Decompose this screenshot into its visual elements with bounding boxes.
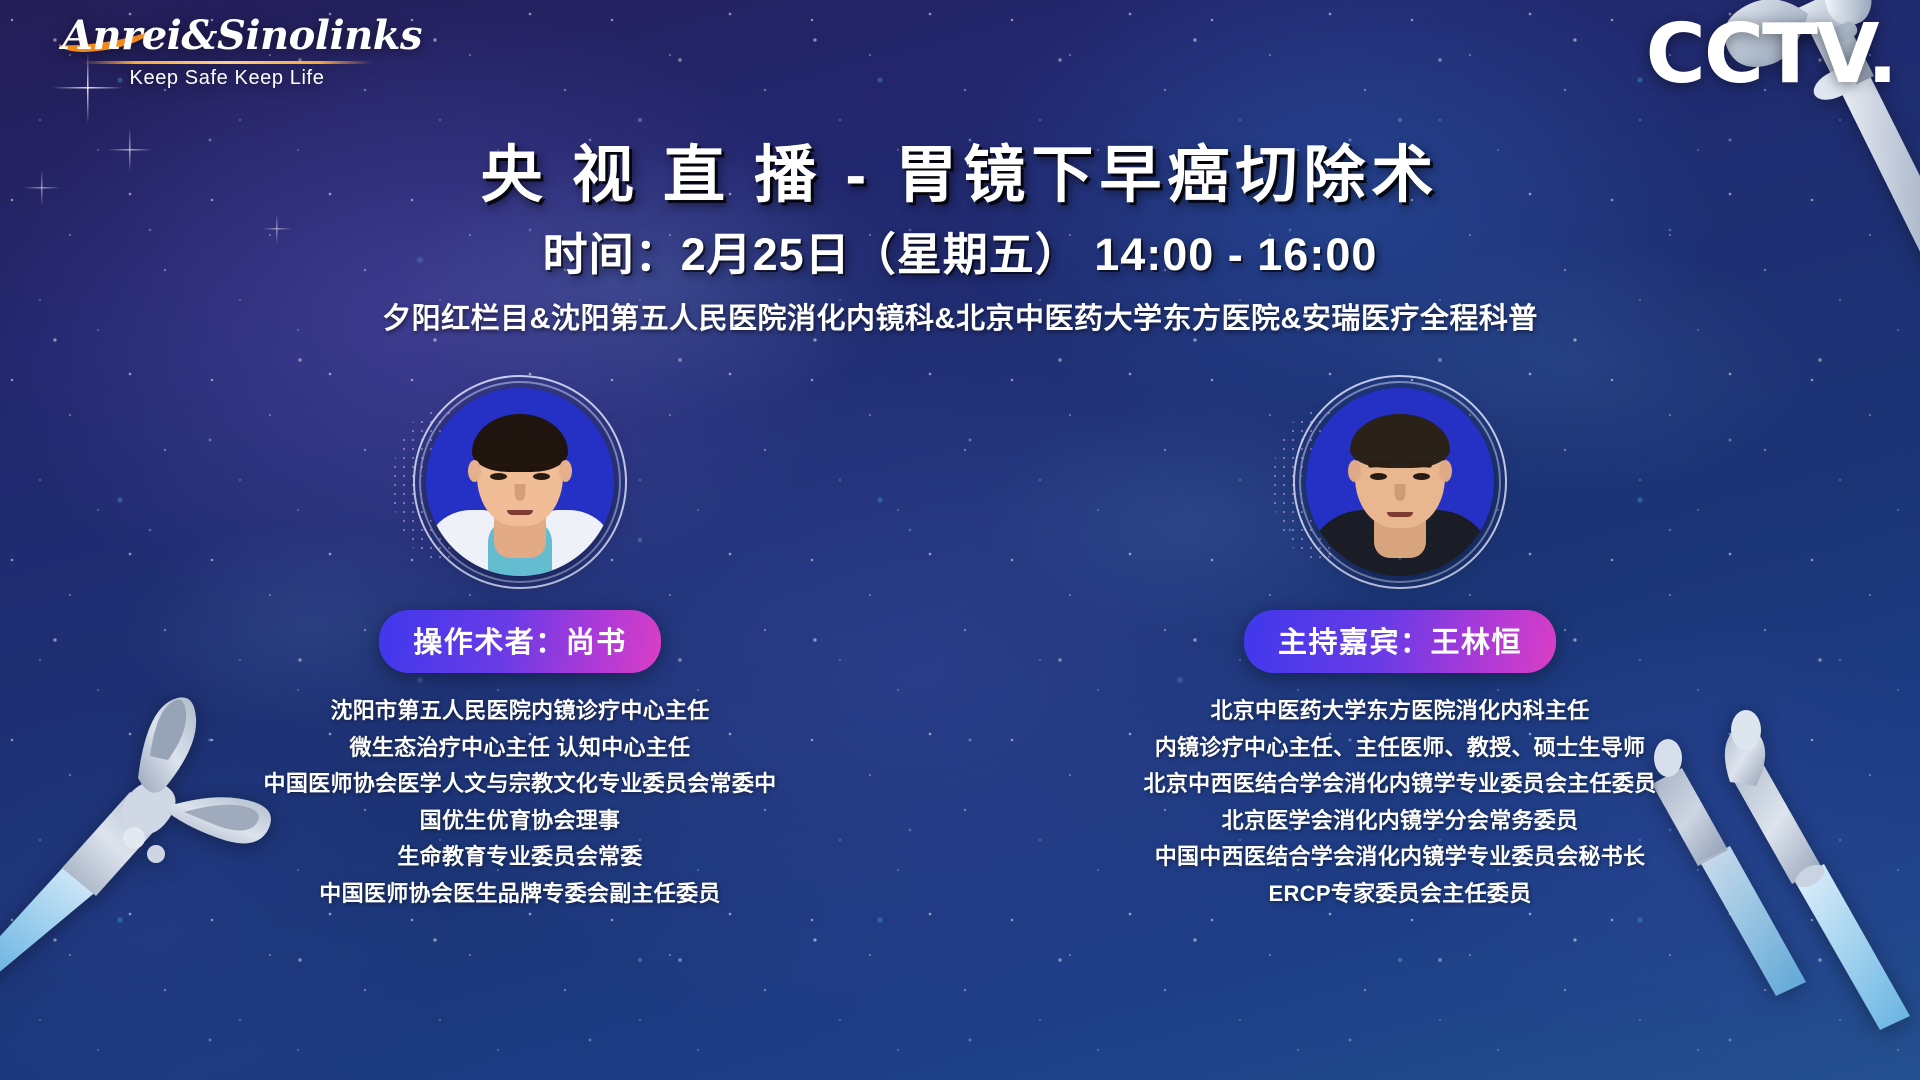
person-card-operator: 操作术者：尚书 沈阳市第五人民医院内镜诊疗中心主任 微生态治疗中心主任 认知中心…	[200, 388, 840, 912]
person-card-host: 主持嘉宾：王林恒 北京中医药大学东方医院消化内科主任 内镜诊疗中心主任、主任医师…	[1080, 388, 1720, 912]
credential-item: ERCP专家委员会主任委员	[1080, 876, 1720, 913]
cctv-logo: CCTV.	[1646, 14, 1896, 96]
avatar-photo-operator	[426, 388, 614, 576]
role-badge-operator: 操作术者：尚书	[379, 610, 661, 673]
poster-canvas: Anrei&Sinolinks Keep Safe Keep Life CCTV…	[0, 0, 1920, 1080]
anrei-sinolinks-logo: Anrei&Sinolinks Keep Safe Keep Life	[62, 16, 392, 90]
credentials-list-operator: 沈阳市第五人民医院内镜诊疗中心主任 微生态治疗中心主任 认知中心主任 中国医师协…	[200, 693, 840, 912]
credential-item: 北京医学会消化内镜学分会常务委员	[1080, 803, 1720, 840]
avatar	[1306, 388, 1494, 576]
credentials-list-host: 北京中医药大学东方医院消化内科主任 内镜诊疗中心主任、主任医师、教授、硕士生导师…	[1080, 693, 1720, 912]
brand-wordmark: Anrei&Sinolinks	[62, 16, 392, 56]
credential-item: 北京中医药大学东方医院消化内科主任	[1080, 693, 1720, 730]
credential-item: 生命教育专业委员会常委	[200, 839, 840, 876]
credential-item: 北京中西医结合学会消化内镜学专业委员会主任委员	[1080, 766, 1720, 803]
credential-item: 中国医师协会医生品牌专委会副主任委员	[200, 876, 840, 913]
credential-item: 微生态治疗中心主任 认知中心主任	[200, 730, 840, 767]
event-subtitle: 夕阳红栏目&沈阳第五人民医院消化内镜科&北京中医药大学东方医院&安瑞医疗全程科普	[0, 295, 1920, 337]
credential-item: 内镜诊疗中心主任、主任医师、教授、硕士生导师	[1080, 730, 1720, 767]
brand-tagline: Keep Safe Keep Life	[62, 67, 392, 90]
logo-divider	[82, 61, 372, 64]
credential-item: 国优生优育协会理事	[200, 803, 840, 840]
page-title: 央 视 直 播 - 胃镜下早癌切除术	[0, 124, 1920, 214]
credential-item: 中国医师协会医学人文与宗教文化专业委员会常委中	[200, 766, 840, 803]
brand-wordmark-text: Anrei&Sinolinks	[62, 12, 422, 59]
event-time: 时间：2月25日（星期五） 14:00 - 16:00	[0, 218, 1920, 283]
role-badge-host: 主持嘉宾：王林恒	[1244, 610, 1556, 673]
credential-item: 中国中西医结合学会消化内镜学专业委员会秘书长	[1080, 839, 1720, 876]
avatar	[426, 388, 614, 576]
credential-item: 沈阳市第五人民医院内镜诊疗中心主任	[200, 693, 840, 730]
avatar-photo-host	[1306, 388, 1494, 576]
